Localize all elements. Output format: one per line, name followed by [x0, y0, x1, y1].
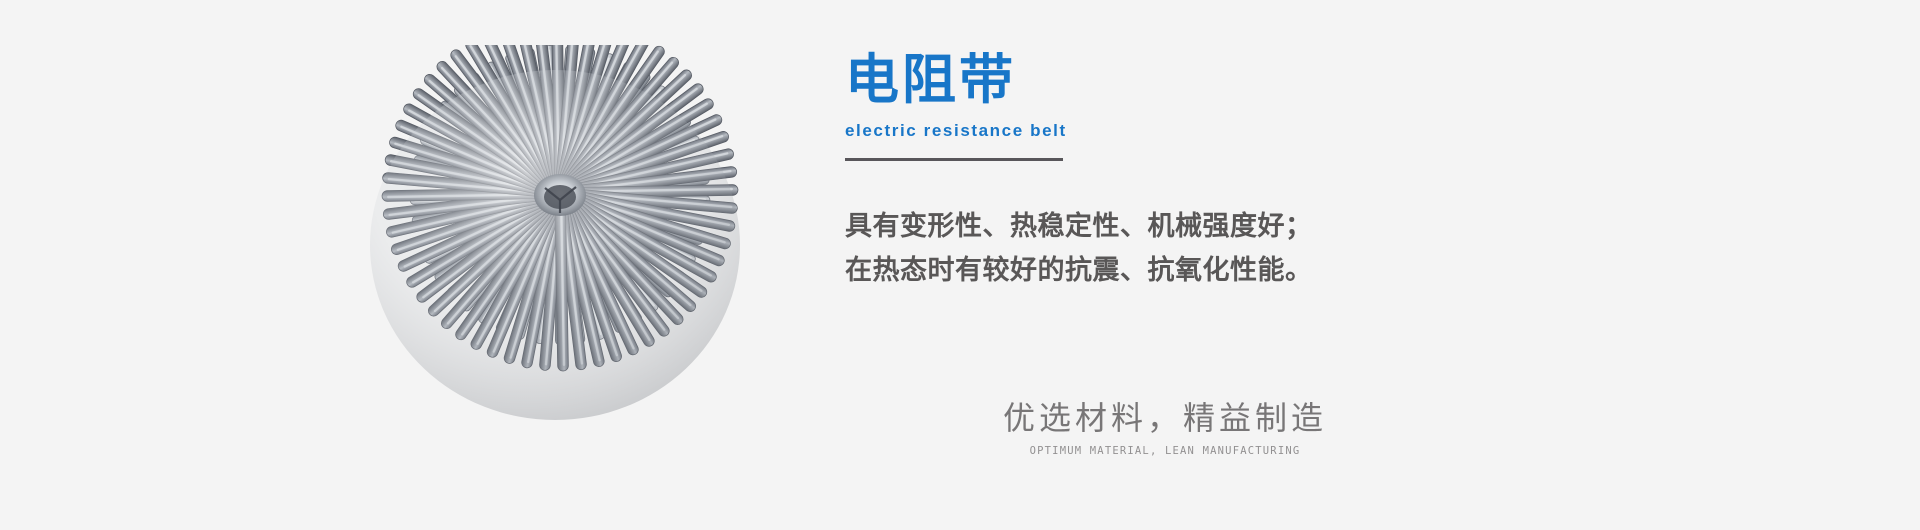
- product-banner: 电阻带 electric resistance belt 具有变形性、热稳定性、…: [0, 0, 1920, 530]
- slogan-chinese: 优选材料，精益制造: [955, 398, 1375, 438]
- description-line-1: 具有变形性、热稳定性、机械强度好；: [845, 205, 1645, 249]
- page-subtitle: electric resistance belt: [845, 120, 1645, 142]
- banner-text-column: 电阻带 electric resistance belt 具有变形性、热稳定性、…: [845, 48, 1645, 293]
- product-description: 具有变形性、热稳定性、机械强度好； 在热态时有较好的抗震、抗氧化性能。: [845, 205, 1645, 293]
- coil-hub: [534, 174, 586, 216]
- slogan-watermark: 优选材料，精益制造 OPTIMUM MATERIAL, LEAN MANUFAC…: [955, 398, 1375, 459]
- title-divider: [845, 158, 1063, 161]
- product-image: [355, 45, 765, 445]
- page-title: 电阻带: [845, 48, 1645, 112]
- description-line-2: 在热态时有较好的抗震、抗氧化性能。: [845, 249, 1645, 293]
- slogan-english: OPTIMUM MATERIAL, LEAN MANUFACTURING: [955, 443, 1375, 459]
